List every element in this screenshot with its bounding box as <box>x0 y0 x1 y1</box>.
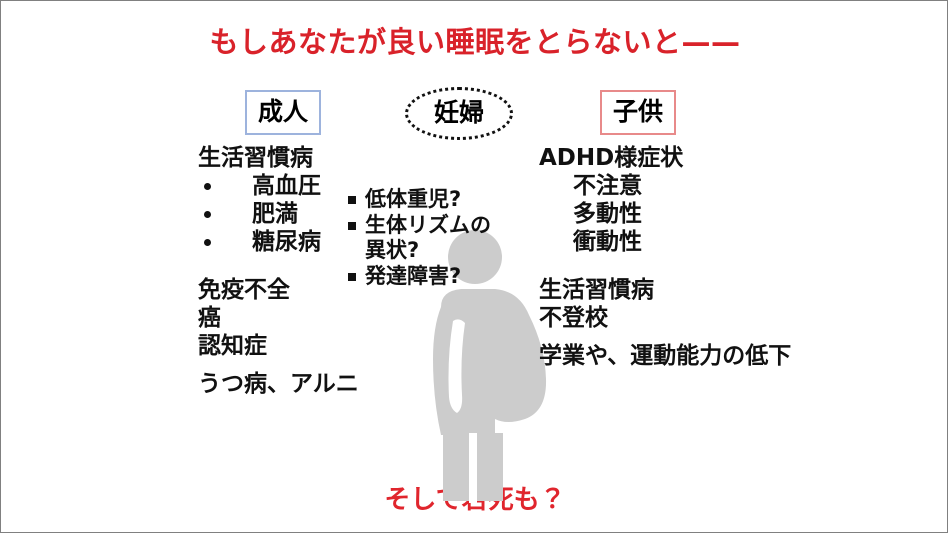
pregnant-list-item: 発達障害? <box>348 264 533 290</box>
child-list-item: 衝動性 <box>539 228 869 256</box>
adult-list-item: 癌 <box>198 304 398 332</box>
pregnant-list-item: 低体重児? <box>348 187 533 213</box>
spacer <box>539 256 869 276</box>
column-header-child: 子供 <box>600 90 676 135</box>
adult-list-item-truncated: うつ病、アルニ <box>198 370 398 398</box>
slide-canvas: もしあなたが良い睡眠をとらないと—— 成人 妊婦 子供 生活習慣病 高血圧 肥満… <box>0 0 948 533</box>
column-header-pregnant: 妊婦 <box>405 87 513 140</box>
child-list-item: 学業や、運動能力の低下 <box>539 342 869 370</box>
child-list-item: 生活習慣病 <box>539 276 869 304</box>
adult-list-item: 認知症 <box>198 332 398 360</box>
column-body-pregnant: 低体重児? 生体リズムの 異状? 発達障害? <box>348 187 533 289</box>
pregnant-list-item-continuation: 異状? <box>348 238 533 264</box>
child-list-item: 多動性 <box>539 200 869 228</box>
child-list-item: 不注意 <box>539 172 869 200</box>
child-group1-heading: ADHD様症状 <box>539 144 869 172</box>
spacer <box>539 332 869 342</box>
slide-title: もしあなたが良い睡眠をとらないと—— <box>1 19 948 61</box>
adult-group1-heading: 生活習慣病 <box>198 144 398 172</box>
column-body-child: ADHD様症状 不注意 多動性 衝動性 生活習慣病 不登校 学業や、運動能力の低… <box>539 144 869 370</box>
spacer <box>198 360 398 370</box>
child-list-item: 不登校 <box>539 304 869 332</box>
pregnant-list-item: 生体リズムの <box>348 213 533 239</box>
column-header-adult: 成人 <box>245 90 321 135</box>
